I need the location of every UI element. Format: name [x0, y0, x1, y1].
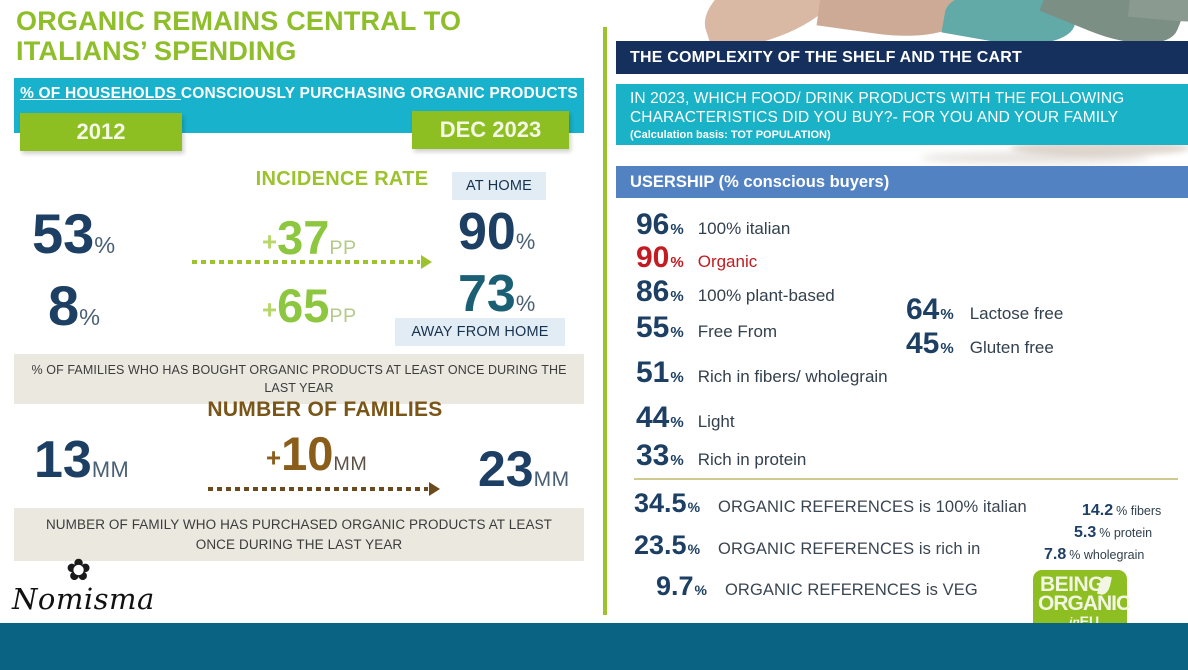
usership-sub-row: 45% Gluten free: [906, 329, 1054, 359]
year-badge-end: DEC 2023: [412, 111, 569, 149]
reference-detail: 14.2 % fibers: [1082, 502, 1161, 520]
label-at-home: AT HOME: [452, 172, 546, 200]
usership-sub-label: Lactose free: [970, 304, 1064, 324]
usership-row: 90% Organic: [636, 243, 757, 273]
families-growth-arrow: [208, 484, 440, 494]
reference-row: 9.7% ORGANIC REFERENCES is VEG: [656, 573, 978, 600]
question-basis: (Calculation basis: TOT POPULATION): [630, 129, 1176, 141]
usership-sign: %: [670, 221, 683, 238]
usership-label: Rich in fibers/ wholegrain: [698, 367, 888, 387]
logo-line-2: ORGANIC: [1038, 593, 1130, 614]
families-end: 23MM: [478, 444, 570, 494]
families-end-value: 23: [478, 441, 534, 497]
incidence-delta-away-plus: +: [262, 296, 277, 324]
households-band-underlined: % OF HOUSEHOLDS: [20, 85, 181, 102]
question-box: IN 2023, WHICH FOOD/ DRINK PRODUCTS WITH…: [616, 84, 1188, 145]
arrow-head-icon: [421, 255, 432, 269]
incidence-start-away-value: 8: [48, 274, 79, 337]
reference-detail: 5.3 % protein: [1074, 524, 1152, 542]
usership-sign: %: [670, 369, 683, 386]
usership-sign: %: [670, 288, 683, 305]
families-start-value: 13: [34, 431, 92, 489]
incidence-delta-away-unit: PP: [329, 305, 356, 327]
reference-detail-value: 5.3: [1074, 524, 1096, 542]
bottom-bar: [0, 623, 1188, 670]
reference-detail-label: % protein: [1099, 526, 1152, 540]
families-start-unit: MM: [92, 457, 129, 482]
incidence-start-at-home: 53%: [32, 206, 116, 262]
usership-sub-value: 64: [906, 295, 939, 325]
incidence-delta-at-home: +37PP: [262, 214, 357, 261]
reference-label: ORGANIC REFERENCES is VEG: [725, 581, 978, 600]
households-band-text: % OF HOUSEHOLDS CONSCIOUSLY PURCHASING O…: [14, 84, 584, 105]
reference-detail-label: % wholegrain: [1069, 548, 1144, 562]
usership-label: 100% italian: [698, 219, 791, 239]
usership-value: 55: [636, 313, 669, 343]
incidence-start-away: 8%: [48, 278, 101, 334]
incidence-delta-at-home-plus: +: [262, 228, 277, 256]
usership-label: Organic: [698, 252, 758, 272]
usership-label: 100% plant-based: [698, 286, 835, 306]
incidence-start-at-home-unit: %: [94, 232, 115, 258]
reference-row: 23.5% ORGANIC REFERENCES is rich in: [634, 532, 980, 559]
usership-title: USERSHIP (% conscious buyers): [616, 166, 1188, 198]
page-title: ORGANIC REMAINS CENTRAL TO ITALIANS’ SPE…: [16, 6, 546, 66]
incidence-end-away-value: 73: [458, 265, 516, 323]
usership-value: 86: [636, 277, 669, 307]
reference-label: ORGANIC REFERENCES is 100% italian: [718, 498, 1027, 517]
usership-sub-sign: %: [940, 306, 953, 323]
reference-sign: %: [688, 499, 700, 515]
families-delta-unit: MM: [333, 453, 367, 475]
usership-row: 51% Rich in fibers/ wholegrain: [636, 358, 888, 388]
incidence-end-at-home-value: 90: [458, 203, 516, 261]
usership-label: Free From: [698, 322, 777, 342]
caption-families: NUMBER OF FAMILY WHO HAS PURCHASED ORGAN…: [14, 508, 584, 561]
families-delta-value: 10: [281, 427, 333, 480]
reference-value: 9.7: [656, 573, 694, 600]
usership-sign: %: [670, 414, 683, 431]
families-delta-plus: +: [266, 444, 281, 472]
arrow-line: [208, 487, 428, 491]
usership-row: 44% Light: [636, 403, 735, 433]
usership-row: 96% 100% italian: [636, 210, 790, 240]
usership-value: 96: [636, 210, 669, 240]
incidence-delta-away: +65PP: [262, 282, 357, 329]
usership-sub-value: 45: [906, 329, 939, 359]
caption-households: % OF FAMILIES WHO HAS BOUGHT ORGANIC PRO…: [14, 354, 584, 404]
section-title: THE COMPLEXITY OF THE SHELF AND THE CART: [616, 41, 1188, 74]
reference-detail: 7.8 % wholegrain: [1044, 546, 1144, 564]
arrow-line: [192, 260, 420, 264]
usership-row: 55% Free From: [636, 313, 777, 343]
reference-row: 34.5% ORGANIC REFERENCES is 100% italian: [634, 490, 1027, 517]
vertical-divider: [603, 27, 607, 615]
reference-detail-value: 7.8: [1044, 546, 1066, 564]
section-divider: [634, 478, 1178, 480]
incidence-start-at-home-value: 53: [32, 202, 94, 265]
reference-detail-value: 14.2: [1082, 502, 1113, 520]
usership-value: 51: [636, 358, 669, 388]
usership-sign: %: [670, 254, 683, 271]
incidence-delta-at-home-unit: PP: [329, 237, 356, 259]
usership-row: 86% 100% plant-based: [636, 277, 835, 307]
incidence-end-at-home: 90%: [458, 206, 536, 258]
usership-row: 33% Rich in protein: [636, 441, 806, 471]
usership-value: 33: [636, 441, 669, 471]
left-panel: ORGANIC REMAINS CENTRAL TO ITALIANS’ SPE…: [0, 0, 600, 670]
incidence-growth-arrow: [192, 257, 432, 267]
number-of-families-title: NUMBER OF FAMILIES: [180, 398, 470, 422]
households-band-rest: CONSCIOUSLY PURCHASING ORGANIC PRODUCTS: [181, 85, 578, 102]
usership-value: 90: [636, 243, 669, 273]
reference-label: ORGANIC REFERENCES is rich in: [718, 540, 980, 559]
question-text: IN 2023, WHICH FOOD/ DRINK PRODUCTS WITH…: [630, 90, 1176, 128]
families-delta: +10MM: [266, 430, 367, 477]
families-end-unit: MM: [534, 468, 570, 491]
incidence-end-away: 73%: [458, 268, 536, 320]
incidence-start-away-unit: %: [79, 304, 100, 330]
usership-sub-label: Gluten free: [970, 338, 1054, 358]
usership-sub-sign: %: [940, 340, 953, 357]
usership-value: 44: [636, 403, 669, 433]
reference-value: 23.5: [634, 532, 687, 559]
incidence-end-away-unit: %: [516, 291, 536, 316]
usership-sign: %: [670, 324, 683, 341]
nomisma-logo: ✿ Nomisma: [8, 556, 148, 616]
usership-label: Light: [698, 412, 735, 432]
reference-detail-label: % fibers: [1116, 504, 1161, 518]
year-badge-start: 2012: [20, 113, 182, 151]
usership-sign: %: [670, 452, 683, 469]
reference-sign: %: [688, 541, 700, 557]
incidence-end-at-home-unit: %: [516, 229, 536, 254]
reference-value: 34.5: [634, 490, 687, 517]
usership-label: Rich in protein: [698, 450, 807, 470]
nomisma-wordmark: Nomisma: [12, 582, 155, 616]
usership-sub-row: 64% Lactose free: [906, 295, 1063, 325]
families-start: 13MM: [34, 434, 129, 486]
incidence-delta-away-value: 65: [277, 279, 329, 332]
incidence-rate-title: INCIDENCE RATE: [212, 168, 472, 191]
reference-sign: %: [695, 582, 707, 598]
arrow-head-icon: [429, 482, 440, 496]
